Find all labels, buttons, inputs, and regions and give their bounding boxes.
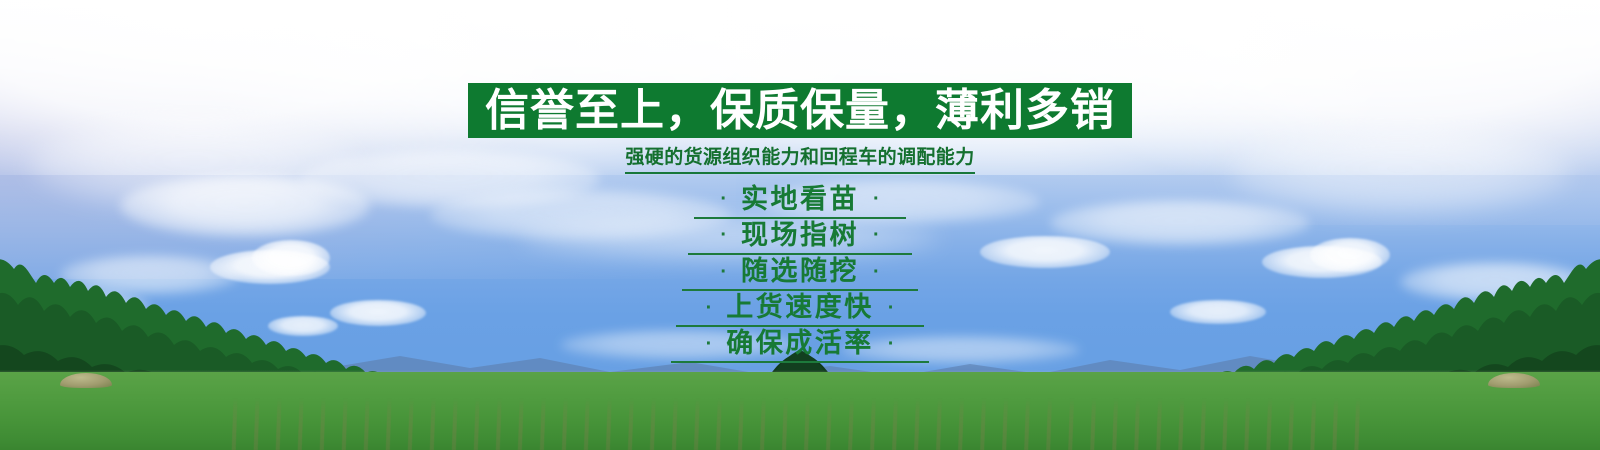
feature-label: 确保成活率 [726, 328, 874, 359]
bullet-dot-icon: · [706, 298, 713, 318]
feature-list-item: · 实地看苗 · [694, 183, 906, 219]
feature-list-item: · 确保成活率 · [671, 327, 929, 363]
crop-furrows [224, 398, 1376, 450]
feature-list-item: · 现场指树 · [688, 219, 912, 255]
subline-text: 强硬的货源组织能力和回程车的调配能力 [625, 147, 974, 174]
headline-banner: 信誉至上，保质保量，薄利多销 [468, 83, 1132, 138]
feature-label: 随选随挖 [741, 256, 859, 287]
feature-label: 上货速度快 [726, 292, 874, 323]
bullet-dot-icon: · [873, 225, 880, 245]
banner-copy: 信誉至上，保质保量，薄利多销 强硬的货源组织能力和回程车的调配能力 · 实地看苗… [0, 0, 1600, 363]
feature-label: 现场指树 [741, 220, 859, 251]
bullet-dot-icon: · [873, 262, 880, 282]
bullet-dot-icon: · [873, 189, 880, 209]
bullet-dot-icon: · [706, 334, 713, 354]
bullet-dot-icon: · [720, 225, 727, 245]
bullet-dot-icon: · [720, 262, 727, 282]
feature-list-item: · 随选随挖 · [682, 255, 918, 291]
bullet-dot-icon: · [720, 189, 727, 209]
headline-text: 信誉至上，保质保量，薄利多销 [485, 89, 1115, 133]
feature-list-item: · 上货速度快 · [676, 291, 924, 327]
bullet-dot-icon: · [888, 334, 895, 354]
feature-list: · 实地看苗 · · 现场指树 · · 随选随挖 · · 上货速度快 · · 确 [671, 183, 929, 363]
hero-banner: 信誉至上，保质保量，薄利多销 强硬的货源组织能力和回程车的调配能力 · 实地看苗… [0, 0, 1600, 450]
crop-field [0, 372, 1600, 450]
feature-label: 实地看苗 [741, 184, 859, 215]
bullet-dot-icon: · [888, 298, 895, 318]
